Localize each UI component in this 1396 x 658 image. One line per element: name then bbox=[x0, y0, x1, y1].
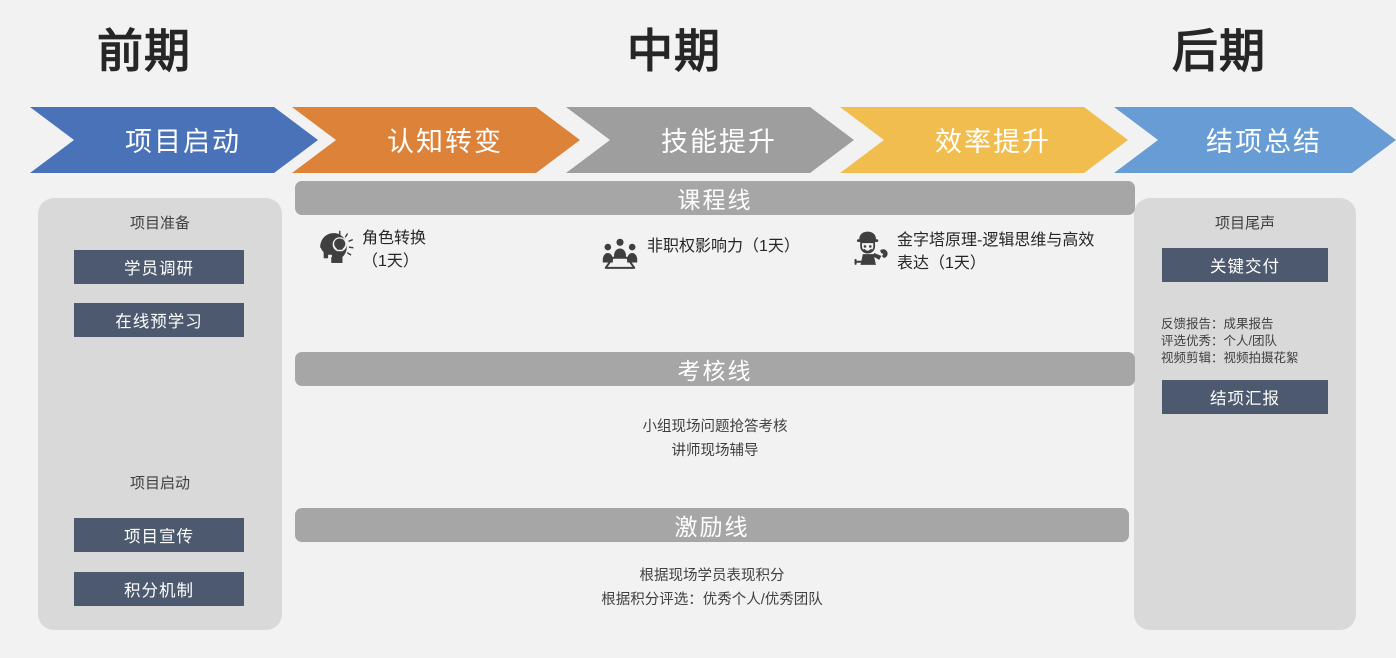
phase-title-mid: 中期 bbox=[627, 28, 721, 74]
left-panel-section-one-title: 项目准备 bbox=[38, 212, 282, 233]
head-lightbulb-icon bbox=[316, 226, 354, 264]
lane-title-assessment: 考核线 bbox=[678, 352, 753, 386]
chip-points-mechanism[interactable]: 积分机制 bbox=[74, 572, 244, 606]
chevron-step-3-label: 技能提升 bbox=[661, 120, 777, 159]
chip-closing-report[interactable]: 结项汇报 bbox=[1162, 380, 1328, 414]
chip-key-delivery[interactable]: 关键交付 bbox=[1162, 248, 1328, 282]
chip-project-promotion[interactable]: 项目宣传 bbox=[74, 518, 244, 552]
course-item-1-label: 角色转换 （1天） bbox=[362, 226, 426, 273]
chevron-step-5[interactable]: 结项总结 bbox=[1114, 107, 1396, 173]
phase-title-late: 后期 bbox=[1172, 28, 1266, 74]
lane-title-course: 课程线 bbox=[678, 181, 753, 215]
chevron-step-2-label: 认知转变 bbox=[387, 120, 503, 159]
right-panel-title: 项目尾声 bbox=[1134, 212, 1356, 233]
chevron-step-1[interactable]: 项目启动 bbox=[30, 107, 318, 173]
phase-title-early: 前期 bbox=[97, 28, 191, 74]
lane-body-incentive: 根据现场学员表现积分 根据积分评选：优秀个人/优秀团队 bbox=[295, 564, 1129, 612]
incentive-line-1: 根据现场学员表现积分 bbox=[295, 564, 1129, 588]
incentive-line-2: 根据积分评选：优秀个人/优秀团队 bbox=[295, 588, 1129, 612]
chevron-step-3[interactable]: 技能提升 bbox=[566, 107, 854, 173]
slide-canvas: 前期 中期 后期 项目启动 认知转变 技能提升 效率提升 结项总结 项目准备 学… bbox=[0, 0, 1396, 658]
phase-chevron-band: 项目启动 认知转变 技能提升 效率提升 结项总结 bbox=[30, 107, 1396, 173]
worker-wrench-icon bbox=[851, 228, 889, 266]
lane-bar-assessment: 考核线 bbox=[295, 352, 1135, 386]
lane-bar-course: 课程线 bbox=[295, 181, 1135, 215]
left-panel-section-two-title: 项目启动 bbox=[38, 472, 282, 493]
chevron-step-4[interactable]: 效率提升 bbox=[840, 107, 1128, 173]
chip-online-prelearning[interactable]: 在线预学习 bbox=[74, 303, 244, 337]
lane-body-assessment: 小组现场问题抢答考核 讲师现场辅导 bbox=[295, 415, 1135, 463]
left-phase-panel: 项目准备 学员调研 在线预学习 项目启动 项目宣传 积分机制 bbox=[38, 198, 282, 630]
course-item-1[interactable]: 角色转换 （1天） bbox=[316, 226, 516, 273]
assessment-line-1: 小组现场问题抢答考核 bbox=[295, 415, 1135, 439]
chevron-step-2[interactable]: 认知转变 bbox=[292, 107, 580, 173]
meeting-people-icon bbox=[601, 234, 639, 272]
course-item-2-label: 非职权影响力（1天） bbox=[647, 234, 800, 258]
chevron-step-1-label: 项目启动 bbox=[125, 120, 241, 159]
lane-bar-incentive: 激励线 bbox=[295, 508, 1129, 542]
right-phase-panel: 项目尾声 关键交付 反馈报告：成果报告 评选优秀：个人/团队 视频剪辑：视频拍摄… bbox=[1134, 198, 1356, 630]
chip-student-survey[interactable]: 学员调研 bbox=[74, 250, 244, 284]
course-item-3[interactable]: 金字塔原理-逻辑思维与高效 表达（1天） bbox=[851, 228, 1119, 275]
right-panel-note: 反馈报告：成果报告 评选优秀：个人/团队 视频剪辑：视频拍摄花絮 bbox=[1161, 316, 1347, 367]
chevron-step-4-label: 效率提升 bbox=[935, 120, 1051, 159]
lane-title-incentive: 激励线 bbox=[675, 508, 750, 542]
assessment-line-2: 讲师现场辅导 bbox=[295, 439, 1135, 463]
course-item-3-label: 金字塔原理-逻辑思维与高效 表达（1天） bbox=[897, 228, 1094, 275]
course-item-2[interactable]: 非职权影响力（1天） bbox=[601, 234, 851, 272]
chevron-step-5-label: 结项总结 bbox=[1206, 120, 1322, 159]
